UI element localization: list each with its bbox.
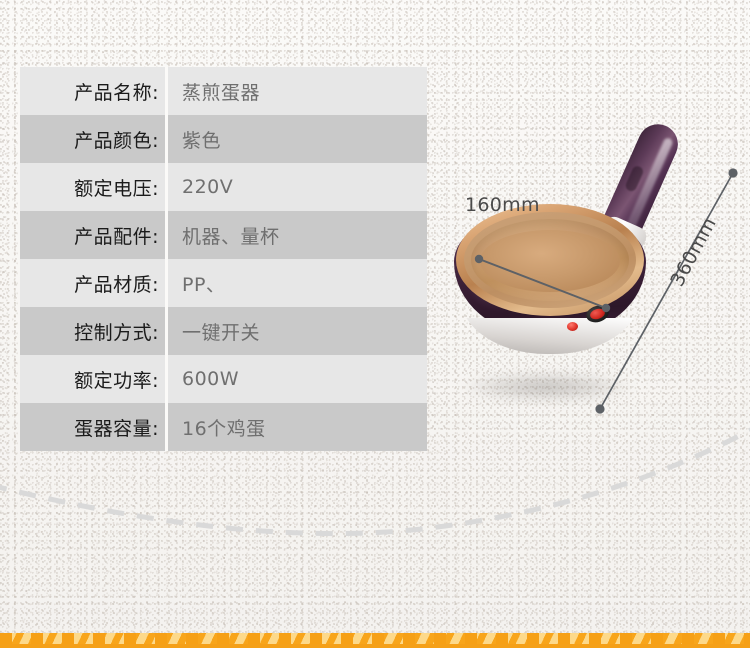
spec-label: 额定功率:	[20, 355, 165, 403]
bottom-hazard-baseline	[0, 644, 750, 648]
spec-value: 220V	[168, 163, 427, 211]
table-row: 产品配件: 机器、量杯	[20, 211, 427, 259]
table-row: 产品名称: 蒸煎蛋器	[20, 67, 427, 115]
spec-value: 一键开关	[168, 307, 427, 355]
spec-value: PP、	[168, 259, 427, 307]
table-row: 产品材质: PP、	[20, 259, 427, 307]
spec-value: 蒸煎蛋器	[168, 67, 427, 115]
spec-label: 产品名称:	[20, 67, 165, 115]
decorative-dashed-arc	[0, 420, 750, 600]
product-spec-table: 产品名称: 蒸煎蛋器 产品颜色: 紫色 额定电压: 220V 产品配件: 机器、…	[20, 67, 427, 451]
spec-value: 紫色	[168, 115, 427, 163]
indicator-light-icon	[567, 322, 578, 331]
spec-label: 额定电压:	[20, 163, 165, 211]
table-row: 产品颜色: 紫色	[20, 115, 427, 163]
spec-label: 产品颜色:	[20, 115, 165, 163]
pan-cooking-surface	[480, 230, 620, 292]
table-row: 额定功率: 600W	[20, 355, 427, 403]
spec-label: 产品材质:	[20, 259, 165, 307]
diameter-label: 160mm	[465, 194, 540, 216]
spec-label: 产品配件:	[20, 211, 165, 259]
dashed-arc-path	[0, 425, 750, 534]
product-shadow	[462, 372, 632, 402]
table-row: 控制方式: 一键开关	[20, 307, 427, 355]
spec-label: 控制方式:	[20, 307, 165, 355]
product-photo	[440, 100, 750, 450]
spec-value: 600W	[168, 355, 427, 403]
table-row: 额定电压: 220V	[20, 163, 427, 211]
spec-value: 机器、量杯	[168, 211, 427, 259]
